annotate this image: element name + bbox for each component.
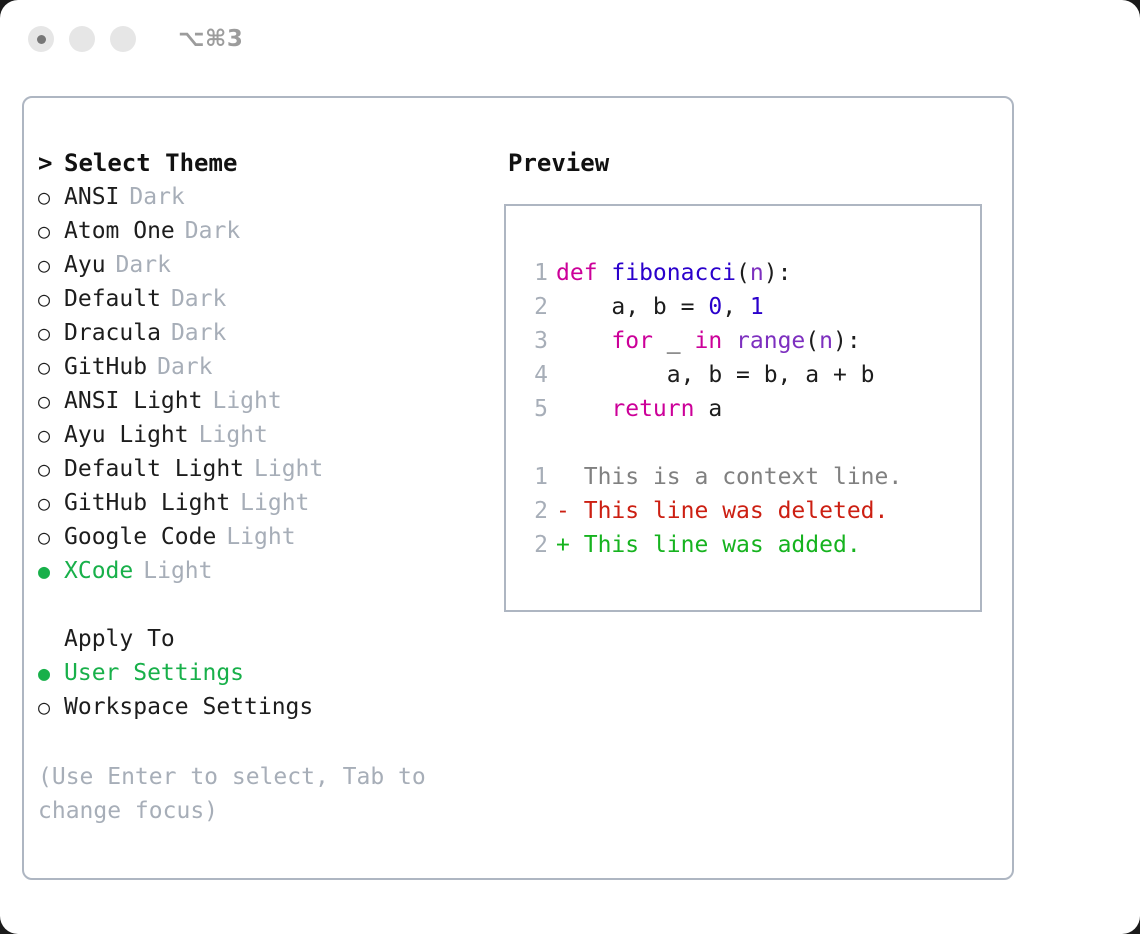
code-token: _ (653, 328, 695, 354)
code-token (556, 396, 611, 422)
radio-unselected-icon: ○ (38, 282, 64, 316)
code-token: n (750, 260, 764, 286)
theme-option-label: Atom One (64, 214, 175, 248)
theme-option-variant-tag: Dark (185, 214, 240, 248)
diff-text: This line was added. (584, 532, 861, 558)
code-token: ( (805, 328, 819, 354)
preview-box: 1def fibonacci(n):2 a, b = 0, 13 for _ i… (504, 204, 982, 612)
radio-unselected-icon: ○ (38, 214, 64, 248)
theme-option-variant-tag: Dark (116, 248, 171, 282)
code-line: 3 for _ in range(n): (522, 324, 980, 358)
theme-option-label: Dracula (64, 316, 161, 350)
radio-unselected-icon: ○ (38, 690, 64, 724)
theme-option-github-light[interactable]: ○GitHub LightLight (38, 486, 494, 520)
code-token: a, b = b, a + b (556, 362, 875, 388)
theme-option-label: ANSI Light (64, 384, 202, 418)
diff-line-number: 2 (522, 494, 548, 528)
code-line-number: 5 (522, 392, 548, 426)
window-dot-3-icon[interactable] (110, 26, 136, 52)
code-token: for (611, 328, 653, 354)
diff-sign (556, 464, 570, 490)
theme-option-ansi[interactable]: ○ANSIDark (38, 180, 494, 214)
code-line-number: 1 (522, 256, 548, 290)
radio-unselected-icon: ○ (38, 350, 64, 384)
diff-text: This line was deleted. (584, 498, 889, 524)
radio-unselected-icon: ○ (38, 418, 64, 452)
diff-sign: - (556, 498, 570, 524)
theme-option-github[interactable]: ○GitHubDark (38, 350, 494, 384)
code-token (722, 328, 736, 354)
code-token: return (611, 396, 694, 422)
code-token: 0 (708, 294, 722, 320)
code-token: n (819, 328, 833, 354)
theme-option-label: XCode (64, 554, 133, 588)
diff-line: 1 This is a context line. (522, 460, 980, 494)
theme-option-variant-tag: Dark (129, 180, 184, 214)
code-token: range (736, 328, 805, 354)
theme-option-label: GitHub Light (64, 486, 230, 520)
window-dot-active-icon[interactable] (28, 26, 54, 52)
radio-unselected-icon: ○ (38, 248, 64, 282)
theme-option-ayu[interactable]: ○AyuDark (38, 248, 494, 282)
code-token: , (722, 294, 750, 320)
radio-unselected-icon: ○ (38, 316, 64, 350)
apply-to-heading-label: Apply To (64, 622, 175, 656)
apply-to-list: ●User Settings○Workspace Settings (38, 656, 494, 724)
app-window: ⌥⌘3 > Select Theme ○ANSIDark○Atom OneDar… (0, 0, 1140, 934)
theme-option-label: Default Light (64, 452, 244, 486)
code-line: 4 a, b = b, a + b (522, 358, 980, 392)
main-panel: > Select Theme ○ANSIDark○Atom OneDark○Ay… (22, 96, 1014, 880)
theme-option-dracula[interactable]: ○DraculaDark (38, 316, 494, 350)
code-token (556, 328, 611, 354)
code-token: def (556, 260, 611, 286)
diff-line-number: 1 (522, 460, 548, 494)
radio-unselected-icon: ○ (38, 180, 64, 214)
code-line-number: 2 (522, 290, 548, 324)
select-theme-heading-label: Select Theme (64, 146, 237, 180)
code-token: fibonacci (611, 260, 736, 286)
code-token: ( (736, 260, 750, 286)
theme-option-variant-tag: Light (226, 520, 295, 554)
window-dot-2-icon[interactable] (69, 26, 95, 52)
code-token: a, b = (556, 294, 708, 320)
diff-gap (570, 464, 584, 490)
theme-option-ansi-light[interactable]: ○ANSI LightLight (38, 384, 494, 418)
theme-option-label: Google Code (64, 520, 216, 554)
diff-sign: + (556, 532, 570, 558)
theme-option-variant-tag: Light (212, 384, 281, 418)
diff-line: 2+ This line was added. (522, 528, 980, 562)
keyboard-shortcut-label: ⌥⌘3 (178, 26, 243, 52)
theme-option-variant-tag: Light (254, 452, 323, 486)
code-line: 2 a, b = 0, 1 (522, 290, 980, 324)
radio-unselected-icon: ○ (38, 520, 64, 554)
theme-option-label: Default (64, 282, 161, 316)
code-line-number: 4 (522, 358, 548, 392)
code-line: 1def fibonacci(n): (522, 256, 980, 290)
theme-picker-column: > Select Theme ○ANSIDark○Atom OneDark○Ay… (24, 98, 494, 878)
theme-option-variant-tag: Dark (157, 350, 212, 384)
diff-line: 2- This line was deleted. (522, 494, 980, 528)
preview-column: Preview 1def fibonacci(n):2 a, b = 0, 13… (494, 98, 1012, 878)
diff-text: This is a context line. (584, 464, 903, 490)
title-bar: ⌥⌘3 (0, 0, 1140, 78)
theme-option-variant-tag: Dark (171, 282, 226, 316)
prompt-caret-icon: > (38, 146, 64, 180)
theme-option-variant-tag: Light (143, 554, 212, 588)
apply-to-option-user-settings[interactable]: ●User Settings (38, 656, 494, 690)
theme-option-google-code[interactable]: ○Google CodeLight (38, 520, 494, 554)
theme-option-label: ANSI (64, 180, 119, 214)
help-hint-text: (Use Enter to select, Tab to change focu… (38, 760, 438, 828)
theme-option-label: GitHub (64, 350, 147, 384)
code-line: 5 return a (522, 392, 980, 426)
theme-option-label: Ayu Light (64, 418, 189, 452)
apply-to-option-label: User Settings (64, 656, 244, 690)
theme-option-variant-tag: Dark (171, 316, 226, 350)
theme-option-default-light[interactable]: ○Default LightLight (38, 452, 494, 486)
radio-unselected-icon: ○ (38, 384, 64, 418)
radio-unselected-icon: ○ (38, 486, 64, 520)
preview-title: Preview (508, 146, 1012, 180)
code-token: ): (764, 260, 792, 286)
apply-to-option-label: Workspace Settings (64, 690, 313, 724)
code-line-number: 3 (522, 324, 548, 358)
theme-list: ○ANSIDark○Atom OneDark○AyuDark○DefaultDa… (38, 180, 494, 588)
theme-option-variant-tag: Light (240, 486, 309, 520)
radio-selected-icon: ● (38, 554, 64, 588)
diff-line-number: 2 (522, 528, 548, 562)
theme-option-label: Ayu (64, 248, 106, 282)
select-theme-heading: > Select Theme (38, 146, 494, 180)
diff-sample: 1 This is a context line.2- This line wa… (522, 460, 980, 562)
preview-spacer (522, 426, 980, 460)
code-token: 1 (750, 294, 764, 320)
diff-gap (570, 498, 584, 524)
apply-to-option-workspace-settings[interactable]: ○Workspace Settings (38, 690, 494, 724)
list-spacer (38, 588, 494, 622)
apply-to-heading: Apply To (38, 622, 494, 656)
code-sample: 1def fibonacci(n):2 a, b = 0, 13 for _ i… (522, 256, 980, 426)
code-token: in (694, 328, 722, 354)
radio-selected-icon: ● (38, 656, 64, 690)
theme-option-xcode[interactable]: ●XCodeLight (38, 554, 494, 588)
theme-option-variant-tag: Light (199, 418, 268, 452)
theme-option-ayu-light[interactable]: ○Ayu LightLight (38, 418, 494, 452)
code-token: a (694, 396, 722, 422)
diff-gap (570, 532, 584, 558)
theme-option-atom-one[interactable]: ○Atom OneDark (38, 214, 494, 248)
radio-unselected-icon: ○ (38, 452, 64, 486)
theme-option-default[interactable]: ○DefaultDark (38, 282, 494, 316)
code-token: ): (833, 328, 861, 354)
